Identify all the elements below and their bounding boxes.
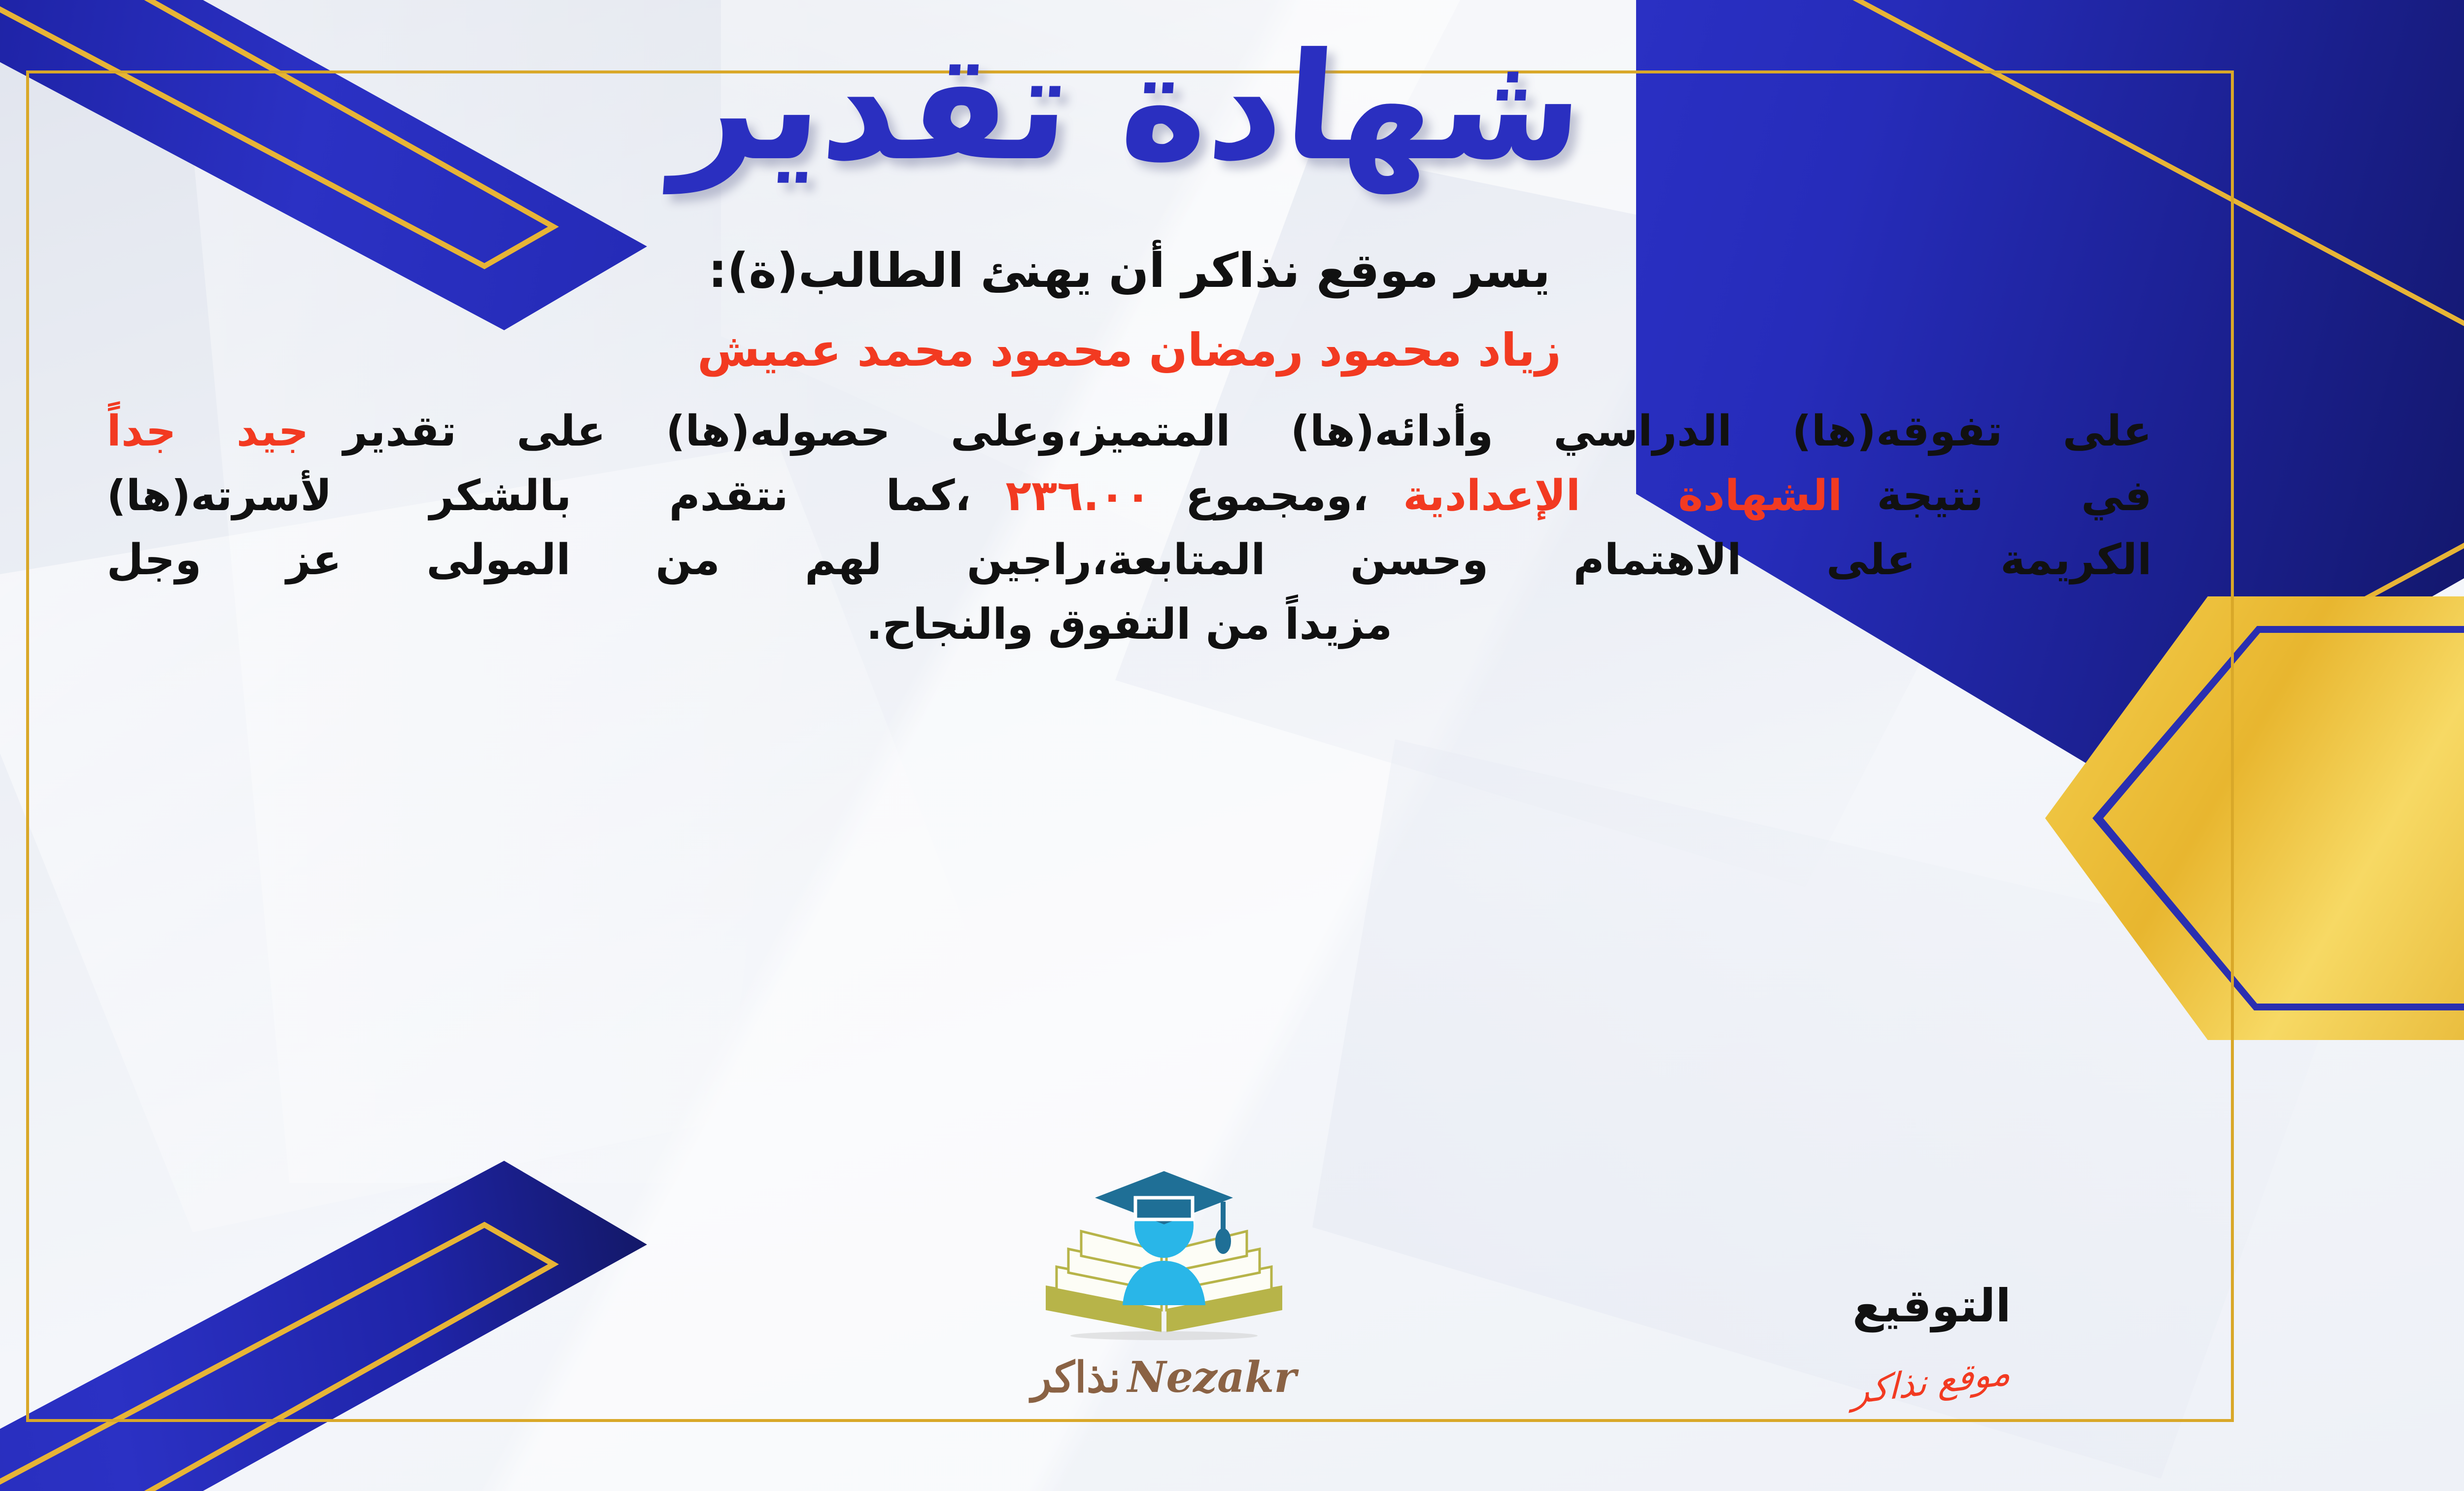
- citation-line-2: في نتيجةالشهادة الإعدادية،ومجموع٢٣٦.٠٠،ك…: [107, 464, 2152, 528]
- citation-line-1-text: على تفوقه(ها) الدراسي وأدائه(ها) المتميز…: [343, 407, 2152, 456]
- certificate-footer: Nezakr نذاكر التوقيع موقع نذاكر: [46, 1162, 2213, 1402]
- citation-line-3: الكريمة على الاهتمام وحسن المتابعة،راجين…: [107, 528, 2152, 592]
- graduate-book-logo-icon: [1026, 1162, 1302, 1350]
- page-title: شهادة تقدير: [670, 30, 1588, 185]
- citation-line-2-suffix: ،كما نتقدم بالشكر لأسرته(ها): [107, 471, 971, 520]
- citation-line-2-prefix: في نتيجة: [1877, 471, 2152, 520]
- citation-body: على تفوقه(ها) الدراسي وأدائه(ها) المتميز…: [107, 399, 2152, 657]
- brand-logo: Nezakr نذاكر: [918, 1162, 1410, 1402]
- total-score: ٢٣٦.٠٠: [1005, 471, 1151, 520]
- signature-label: التوقيع: [1852, 1280, 2011, 1332]
- signature-block: التوقيع موقع نذاكر: [1710, 1280, 2154, 1402]
- brand-arabic-name: نذاكر: [1031, 1352, 1120, 1402]
- certificate-content: شهادة تقدير يسر موقع نذاكر أن يهنئ الطال…: [46, 0, 2213, 1491]
- exam-name: الشهادة الإعدادية: [1403, 471, 1842, 520]
- citation-line-4: مزيداً من التفوق والنجاح.: [107, 592, 2152, 657]
- signature-mark: موقع نذاكر: [1852, 1351, 2011, 1412]
- citation-line-1: على تفوقه(ها) الدراسي وأدائه(ها) المتميز…: [107, 399, 2152, 464]
- certificate-canvas: شهادة تقدير يسر موقع نذاكر أن يهنئ الطال…: [0, 0, 2464, 1491]
- brand-wordmark: Nezakr نذاكر: [1031, 1352, 1296, 1402]
- grade-value: جيد جداً: [107, 407, 309, 456]
- citation-line-2-mid: ،ومجموع: [1185, 471, 1369, 520]
- greeting-text: يسر موقع نذاكر أن يهنئ الطالب(ة):: [708, 243, 1550, 298]
- brand-latin-name: Nezakr: [1128, 1352, 1297, 1402]
- student-name: زياد محمود رمضان محمود محمد عميش: [697, 324, 1561, 377]
